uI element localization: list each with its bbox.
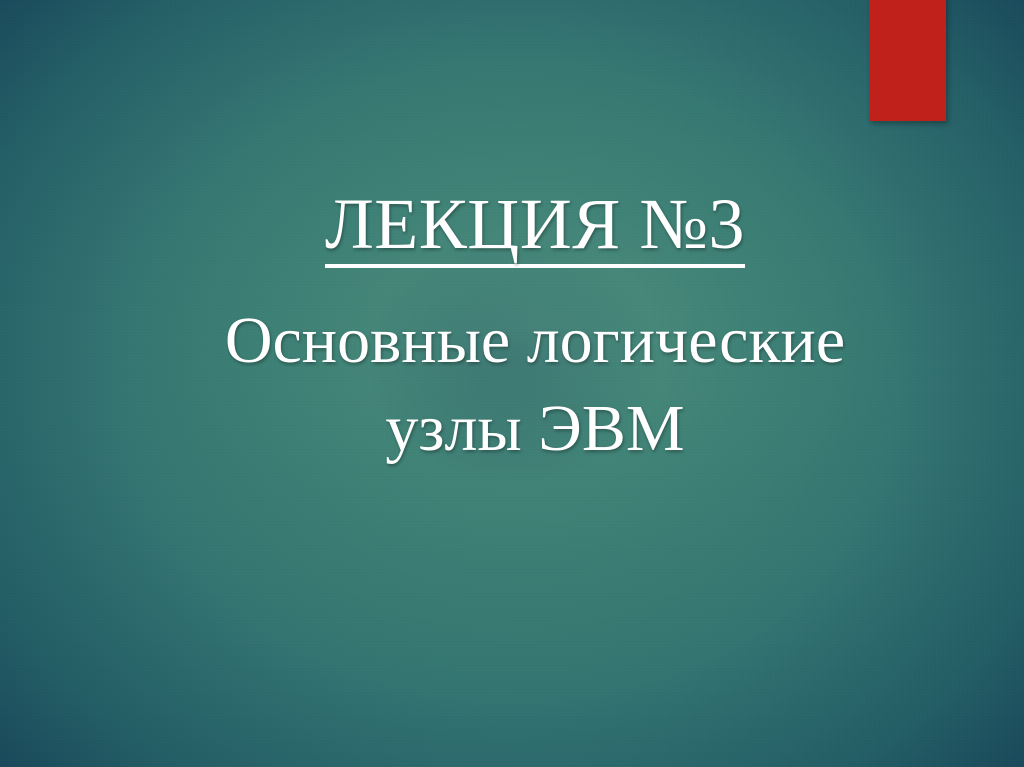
presentation-slide: ЛЕКЦИЯ №3 Основные логические узлы ЭВМ xyxy=(0,0,1024,767)
page-title: ЛЕКЦИЯ №3 xyxy=(0,186,1024,268)
page-subtitle-line-1: Основные логические xyxy=(46,297,1024,385)
red-accent-rectangle xyxy=(869,0,946,121)
page-title-text: ЛЕКЦИЯ №3 xyxy=(325,186,745,268)
page-subtitle-line-2: узлы ЭВМ xyxy=(46,385,1024,473)
page-subtitle: Основные логические узлы ЭВМ xyxy=(0,297,1024,473)
